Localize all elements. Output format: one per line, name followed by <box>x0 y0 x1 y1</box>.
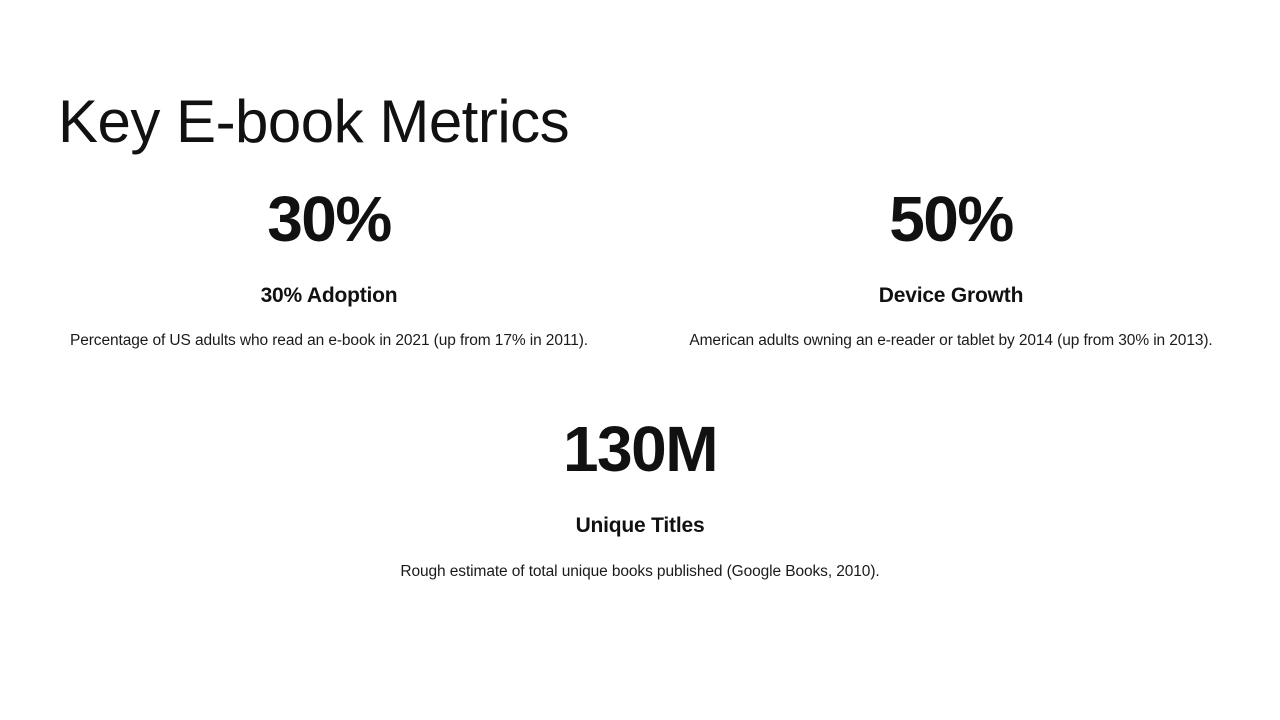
metric-value: 30% <box>26 185 632 254</box>
metrics-row-primary: 30% 30% Adoption Percentage of US adults… <box>0 185 1280 352</box>
metric-description: American adults owning an e-reader or ta… <box>648 331 1254 352</box>
metric-value: 50% <box>648 185 1254 254</box>
metric-card-device-growth: 50% Device Growth American adults owning… <box>640 185 1262 352</box>
metric-description: Rough estimate of total unique books pub… <box>337 562 943 583</box>
metric-description: Percentage of US adults who read an e-bo… <box>26 331 632 352</box>
metric-label: 30% Adoption <box>26 283 632 308</box>
slide-canvas: Key E-book Metrics 30% 30% Adoption Perc… <box>0 0 1280 720</box>
metric-card-adoption: 30% 30% Adoption Percentage of US adults… <box>18 185 640 352</box>
metrics-row-secondary: 130M Unique Titles Rough estimate of tot… <box>0 415 1280 582</box>
page-title: Key E-book Metrics <box>58 92 569 152</box>
metric-card-unique-titles: 130M Unique Titles Rough estimate of tot… <box>329 415 951 582</box>
metrics-grid: 30% 30% Adoption Percentage of US adults… <box>0 185 1280 582</box>
metric-label: Device Growth <box>648 283 1254 308</box>
metric-value: 130M <box>337 415 943 484</box>
metric-label: Unique Titles <box>337 513 943 538</box>
